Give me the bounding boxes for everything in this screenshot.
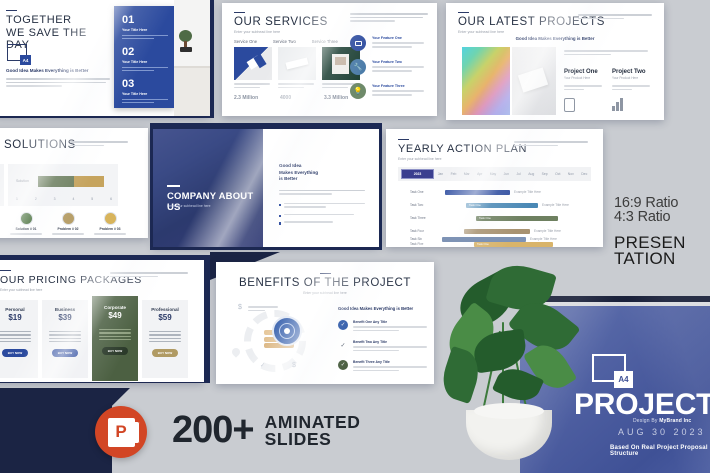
problem-label: Solution # 01	[6, 227, 46, 231]
slide-subtitle: Enter your subhead line here	[167, 204, 211, 208]
slides-label-slides: SLIDES	[265, 431, 361, 448]
bullet-item	[279, 214, 365, 218]
slide-headline: Good Idea Makes Everything is Better	[338, 306, 413, 311]
pricing-card[interactable]: Personal $19 BUY NOW	[0, 300, 38, 378]
briefcase-icon	[350, 35, 366, 51]
hero-brand: MyBrand Inc	[659, 418, 691, 424]
ratio-info-block: 16:9Ratio 4:3Ratio PRESEN TATION	[614, 196, 686, 267]
pricing-card[interactable]: Business $39 BUY NOW	[42, 300, 88, 378]
gantt-task-label: Task Four	[410, 229, 424, 233]
project-sub: Your Product Here	[564, 76, 604, 80]
gantt-bar	[464, 229, 530, 234]
bar-segment-gold	[74, 176, 104, 187]
tick-feb: Feb	[451, 172, 457, 176]
feature-title: Your Feature Three	[372, 84, 424, 88]
check-filled-icon: ✓	[338, 320, 348, 330]
benefit-title: Benefit Three Any Title	[353, 360, 427, 364]
bullet-item	[279, 221, 365, 225]
problem-badge[interactable]: Problem # 02	[48, 212, 88, 235]
powerpoint-icon: P	[95, 406, 147, 458]
gantt-task-label: Task Three	[410, 216, 426, 220]
hero-tagline: Based On Real Project Proposal Structure	[610, 445, 710, 457]
tick-jan: Jan	[438, 172, 443, 176]
slides-count-block: 200+ AMINATED SLIDES	[172, 409, 360, 452]
bullet-dot-icon	[279, 215, 281, 217]
package-price: $49	[92, 311, 138, 320]
target-icon	[272, 316, 302, 346]
interior-photo	[174, 0, 210, 116]
dollar-icon: $	[238, 304, 242, 311]
step-item[interactable]: 02 Your Title Here	[122, 47, 168, 71]
monstera-plant	[430, 262, 605, 473]
drop-icon	[230, 346, 241, 357]
problem-badge[interactable]: Solution # 01	[6, 212, 46, 235]
project-sub: Your Product Here	[612, 76, 652, 80]
project-name: Project One	[564, 69, 604, 75]
bullet-item	[279, 203, 365, 210]
ratio-word-2: Ratio	[638, 209, 671, 225]
pricing-card-featured[interactable]: Corporate $49 BUY NOW	[92, 296, 138, 381]
check-icon: ✓	[338, 340, 348, 350]
tick-dec: Dec	[581, 172, 587, 176]
project-name: Project Two	[612, 69, 652, 75]
gear-illustration: $ $ $ ✓	[230, 304, 330, 376]
hero-designed-by: Design By MyBrand Inc	[633, 418, 691, 424]
gantt-legend-year: 2023	[401, 169, 434, 179]
package-price: $39	[42, 313, 88, 322]
problem-label: Problem # 02	[48, 227, 88, 231]
gantt-inbar-label: Task One	[479, 216, 491, 220]
benefit-title: Benefit One Any Title	[353, 320, 427, 324]
slides-label-aminated: AMINATED	[265, 414, 361, 431]
project-card[interactable]: Project Two Your Product Here	[612, 69, 652, 111]
solutions-chart-left: 1234	[0, 164, 4, 206]
slide-subtitle: Enter your subhead line here	[0, 288, 142, 292]
solutions-chart-right: Solution 123456	[8, 164, 118, 206]
hero-designed-by-prefix: Design By	[633, 418, 659, 424]
problem-label: Problem # 03	[90, 227, 130, 231]
slide-title: BENEFITS OF THE PROJECT	[216, 277, 434, 289]
presentation-word-2: TATION	[614, 251, 686, 267]
tick-jul: Jul	[516, 172, 520, 176]
tick-mar: Mar	[464, 172, 470, 176]
wrench-icon: 🔧	[350, 59, 366, 75]
step-label: Your Title Here	[122, 92, 168, 96]
phone-photo	[462, 47, 510, 115]
slide-title-line1: TOGETHER	[6, 14, 101, 27]
slide-together-we-save-the-day[interactable]: TOGETHER WE SAVE THE DAY A4 Good Idea Ma…	[0, 0, 210, 116]
ratio-4-3: 4:3Ratio	[614, 210, 686, 224]
buy-now-button[interactable]: BUY NOW	[52, 349, 78, 357]
slide-benefits-of-the-project[interactable]: BENEFITS OF THE PROJECT Enter your subhe…	[216, 262, 434, 384]
bar-segment-green	[38, 176, 74, 187]
gantt-annotation: Example Title Here	[534, 229, 561, 233]
feature-row[interactable]: Your Feature One	[350, 35, 424, 51]
package-name: Personal	[0, 307, 38, 312]
powerpoint-glyph: P	[108, 418, 135, 447]
service-stat: 4000	[280, 95, 291, 101]
package-name: Corporate	[92, 305, 138, 310]
slides-count: 200+	[172, 409, 254, 452]
seal-icon	[62, 212, 75, 225]
slide-title: COMPANY ABOUT US	[167, 191, 263, 213]
slide-title: YEARLY ACTION PLAN	[398, 143, 527, 155]
gantt-bar: Task One	[476, 216, 558, 221]
service-tabs[interactable]: Service One Service Two Service Three	[234, 39, 338, 44]
tab-service-one[interactable]: Service One	[234, 39, 257, 44]
gantt-inbar-label: Task One	[469, 203, 481, 207]
feature-row[interactable]: 💡 Your Feature Three	[350, 83, 424, 99]
logo-mark: A4	[614, 371, 633, 388]
tick-may: May	[490, 172, 496, 176]
slide-yearly-action-plan[interactable]: YEARLY ACTION PLAN Enter your subhead li…	[386, 129, 603, 247]
slide-subtitle: Enter your subhead line here	[458, 30, 605, 34]
slide-subtitle: Enter your subhead line here	[398, 157, 527, 161]
package-price: $19	[0, 313, 38, 322]
phone-icon	[564, 98, 575, 112]
gantt-row: Task Four Example Title Here	[398, 228, 591, 235]
check-icon: ✓	[260, 362, 265, 369]
service-stat: 2.3 Million	[234, 95, 258, 101]
laptop-photo	[512, 47, 556, 115]
package-name: Business	[42, 307, 88, 312]
ratio-16-9: 16:9Ratio	[614, 196, 686, 210]
feature-title: Your Feature Two	[372, 60, 424, 64]
check-filled-icon: ✓	[338, 360, 348, 370]
step-number: 02	[122, 47, 168, 58]
gantt-task-label: Task Two	[410, 203, 423, 207]
slide-solutions[interactable]: SOLUTIONS 1234 Solution 123456 Problem #…	[0, 128, 148, 238]
tick-nov: Nov	[568, 172, 574, 176]
slide-headline: Good Idea Makes Everything is Better	[446, 36, 664, 41]
buy-now-button[interactable]: BUY NOW	[102, 347, 128, 355]
package-name: Professional	[142, 307, 188, 312]
service-stat: 3.3 Million	[324, 95, 348, 101]
headline-3: is Better	[279, 176, 365, 183]
buy-now-button[interactable]: BUY NOW	[2, 349, 28, 357]
feature-title: Your Feature One	[372, 36, 424, 40]
slide-company-about-us[interactable]: COMPANY ABOUT US Enter your subhead line…	[153, 129, 379, 247]
slide-our-latest-projects[interactable]: OUR LATEST PROJECTS Enter your subhead l…	[446, 3, 664, 120]
benefit-title: Benefit Two Any Title	[353, 340, 427, 344]
step-item[interactable]: 01 Your Title Here	[122, 15, 168, 39]
tick-aug: Aug	[528, 172, 534, 176]
plant-pot	[466, 410, 552, 460]
template-preview-canvas: TOGETHER WE SAVE THE DAY A4 Good Idea Ma…	[0, 0, 710, 473]
ratio-value-2: 4:3	[614, 209, 634, 225]
about-cover-panel: COMPANY ABOUT US Enter your subhead line…	[153, 129, 263, 247]
gantt-bar: Task One	[466, 203, 538, 208]
slide-title: SOLUTIONS	[4, 139, 76, 151]
gantt-bar	[442, 237, 526, 242]
steps-panel: 01 Your Title Here 02 Your Title Here 03…	[114, 6, 174, 108]
seal-icon	[104, 212, 117, 225]
gantt-row: Task Two Task One Example Title Here	[398, 202, 591, 209]
tab-service-two[interactable]: Service Two	[273, 39, 296, 44]
step-item[interactable]: 03 Your Title Here	[122, 79, 168, 103]
bullet-dot-icon	[279, 204, 281, 206]
tick-apr: Apr	[477, 172, 482, 176]
slide-our-services[interactable]: OUR SERVICES Enter your subhead line her…	[222, 3, 437, 116]
hero-date: AUG 30 2023	[618, 427, 706, 437]
step-number: 01	[122, 15, 168, 26]
gantt-row: Task One Example Title Here	[398, 189, 591, 196]
step-label: Your Title Here	[122, 28, 168, 32]
tab-service-three[interactable]: Service Three	[312, 39, 338, 44]
project-card[interactable]: Project One Your Product Here	[564, 69, 604, 112]
gantt-annotation: Example Title Here	[542, 203, 569, 207]
slide-subtitle: Enter your subhead line here	[234, 30, 328, 34]
dollar-icon: $	[292, 362, 296, 369]
benefit-item[interactable]: ✓ Benefit One Any Title	[338, 320, 427, 333]
package-price: $59	[142, 313, 188, 322]
chart-icon	[612, 98, 652, 111]
tick-sep: Sep	[542, 172, 548, 176]
bullet-dot-icon	[279, 222, 281, 224]
feature-row[interactable]: 🔧 Your Feature Two	[350, 59, 424, 75]
bulb-icon: 💡	[350, 83, 366, 99]
seal-icon	[20, 212, 33, 225]
benefit-item[interactable]: ✓ Benefit Two Any Title	[338, 340, 427, 353]
service-thumb[interactable]	[234, 47, 272, 80]
tick-jun: Jun	[504, 172, 509, 176]
pricing-card[interactable]: Professional $59 BUY NOW	[142, 300, 188, 378]
problem-badge[interactable]: Problem # 03	[90, 212, 130, 235]
service-thumb[interactable]	[278, 47, 316, 80]
gantt-month-axis: 2023 Jan Feb Mar Apr May Jun Jul Aug Sep…	[398, 167, 591, 181]
slide-subtitle: Enter your subhead line here	[216, 291, 434, 295]
slide-title: OUR SERVICES	[234, 16, 328, 28]
slide-our-pricing-packages[interactable]: OUR PRICING PACKAGES Enter your subhead …	[0, 260, 204, 382]
step-number: 03	[122, 79, 168, 90]
buy-now-button[interactable]: BUY NOW	[152, 349, 178, 357]
gantt-row-overflow: Task Six Example Title Here	[398, 236, 591, 243]
gantt-bar	[445, 190, 510, 195]
gantt-annotation: Example Title Here	[530, 237, 557, 241]
gantt-annotation: Example Title Here	[514, 190, 541, 194]
frame-logo-icon: A4	[7, 44, 27, 61]
step-label: Your Title Here	[122, 60, 168, 64]
chart-label: Solution	[16, 179, 29, 183]
benefit-item[interactable]: ✓ Benefit Three Any Title	[338, 360, 427, 373]
tick-oct: Oct	[555, 172, 560, 176]
gantt-row: Task Three Task One	[398, 215, 591, 222]
gantt-task-label: Task One	[410, 190, 423, 194]
logo-mark: A4	[20, 55, 31, 65]
slide-subhead: Good Idea Makes Everything is Better	[6, 68, 110, 73]
gantt-task-label: Task Six	[410, 237, 422, 241]
eyebrow-rule	[6, 10, 17, 11]
